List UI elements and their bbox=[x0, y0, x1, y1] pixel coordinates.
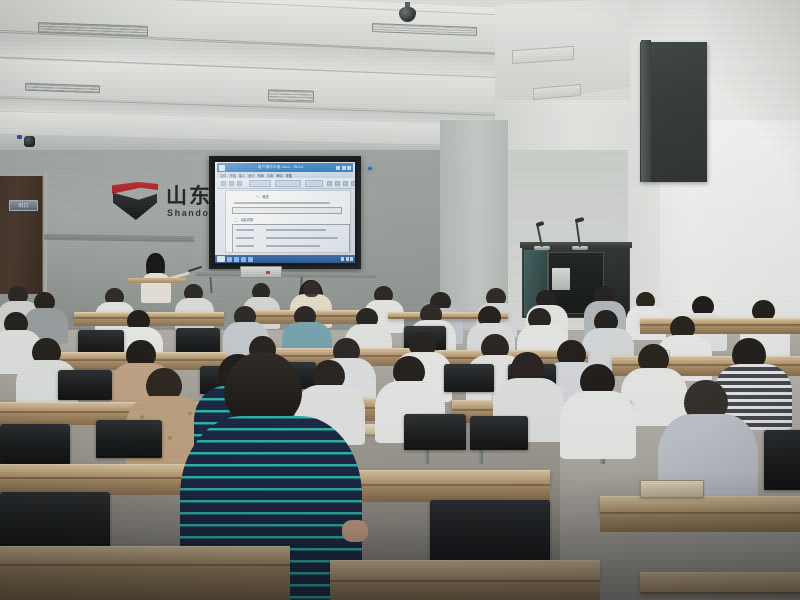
chair[interactable] bbox=[0, 424, 70, 464]
door-sign: 出口 bbox=[9, 200, 38, 211]
chair[interactable] bbox=[764, 430, 800, 490]
window-controls[interactable] bbox=[336, 166, 351, 170]
toolbar-icon[interactable] bbox=[229, 181, 234, 186]
presenter-desk bbox=[128, 278, 186, 283]
taskbar-icon[interactable] bbox=[241, 257, 246, 262]
entrance-door[interactable] bbox=[0, 176, 44, 294]
desk bbox=[640, 318, 800, 326]
menu-item[interactable]: 布局 bbox=[258, 173, 264, 178]
ribbon-group[interactable] bbox=[275, 180, 301, 187]
chair[interactable] bbox=[176, 328, 220, 353]
hand bbox=[342, 520, 368, 542]
desk bbox=[0, 546, 290, 566]
minimize-icon[interactable] bbox=[336, 166, 340, 170]
gooseneck-microphone[interactable] bbox=[534, 218, 552, 250]
acoustic-panel-edge bbox=[641, 40, 651, 182]
menu-item[interactable]: 开始 bbox=[229, 173, 235, 178]
dome-camera-icon bbox=[399, 2, 416, 22]
door-sign-label: 出口 bbox=[10, 202, 37, 209]
app-titlebar: 用户操作手册.docx - Word bbox=[217, 163, 353, 172]
projection-screen[interactable]: 用户操作手册.docx - Word 文件 开始 插入 设计 布局 引用 审阅 … bbox=[209, 156, 361, 269]
start-button-icon[interactable] bbox=[217, 256, 225, 262]
logo-chinese-text: 山东 bbox=[166, 180, 212, 210]
screen-surface: 用户操作手册.docx - Word 文件 开始 插入 设计 布局 引用 审阅 … bbox=[215, 162, 355, 263]
menu-item[interactable]: 引用 bbox=[267, 173, 273, 178]
document-body[interactable]: 一、概述 二、功能说明 三、操作流程 bbox=[225, 190, 351, 253]
tray-icon[interactable] bbox=[346, 257, 349, 261]
menu-item[interactable]: 插入 bbox=[239, 173, 245, 178]
microphone-head bbox=[575, 217, 585, 223]
microphone-neck bbox=[575, 219, 580, 247]
microphone-neck bbox=[536, 223, 543, 247]
app-toolbar[interactable] bbox=[217, 178, 353, 189]
camera-body bbox=[24, 136, 35, 147]
desk bbox=[600, 496, 800, 514]
desk bbox=[640, 572, 800, 594]
wall-camera-icon bbox=[22, 133, 36, 147]
classroom-photo: 出口 山东 Shando 用户操作手册.docx - Word 文件 bbox=[0, 0, 800, 600]
maximize-icon[interactable] bbox=[342, 166, 346, 170]
menu-item[interactable]: 文件 bbox=[220, 173, 226, 178]
document-heading: 一、概述 bbox=[256, 194, 269, 199]
chair[interactable] bbox=[58, 370, 112, 400]
notebook bbox=[640, 480, 704, 498]
air-vent-icon bbox=[268, 89, 314, 102]
menu-item[interactable]: 设计 bbox=[248, 173, 254, 178]
logo-mark-black bbox=[113, 191, 157, 220]
camera-dome bbox=[399, 7, 416, 22]
camera-led bbox=[17, 135, 22, 139]
chair[interactable] bbox=[404, 414, 466, 450]
close-icon[interactable] bbox=[347, 166, 351, 170]
desk-front bbox=[330, 582, 600, 600]
logo-mark-icon bbox=[112, 182, 158, 220]
screen-power-led bbox=[368, 167, 372, 170]
clock bbox=[350, 257, 353, 261]
document-heading: 二、功能说明 bbox=[234, 217, 253, 222]
chair[interactable] bbox=[444, 364, 494, 392]
windows-taskbar[interactable] bbox=[215, 255, 355, 263]
gooseneck-microphone[interactable] bbox=[572, 212, 590, 250]
taskbar-icon[interactable] bbox=[248, 257, 253, 262]
system-tray[interactable] bbox=[341, 257, 353, 261]
desk bbox=[330, 560, 600, 582]
toolbar-icon[interactable] bbox=[335, 181, 340, 186]
taskbar-icon[interactable] bbox=[234, 257, 239, 262]
toolbar-icon[interactable] bbox=[327, 181, 332, 186]
app-window-title: 用户操作手册.docx - Word bbox=[225, 165, 336, 170]
taskbar-icon[interactable] bbox=[227, 257, 232, 262]
toolbar-icon[interactable] bbox=[351, 181, 355, 186]
toolbar-icon[interactable] bbox=[221, 181, 226, 186]
desk-front bbox=[600, 514, 800, 532]
menu-item[interactable]: 审阅 bbox=[276, 173, 282, 178]
chair[interactable] bbox=[96, 420, 162, 458]
ribbon-group[interactable] bbox=[305, 180, 323, 187]
menu-item[interactable]: 视图 bbox=[286, 173, 292, 178]
av-control-box[interactable] bbox=[240, 266, 282, 278]
toolbar-icon[interactable] bbox=[237, 181, 242, 186]
doc-field-box bbox=[232, 207, 342, 214]
ribbon-group[interactable] bbox=[249, 180, 271, 187]
av-rack-device bbox=[552, 268, 570, 290]
logo-english-text: Shando bbox=[167, 208, 210, 218]
desk-front bbox=[640, 326, 800, 334]
av-control-led bbox=[266, 271, 270, 274]
chair[interactable] bbox=[470, 416, 528, 450]
desk-front bbox=[0, 566, 290, 600]
microphone-head bbox=[536, 221, 545, 227]
tray-icon[interactable] bbox=[341, 257, 344, 261]
toolbar-icon[interactable] bbox=[343, 181, 348, 186]
